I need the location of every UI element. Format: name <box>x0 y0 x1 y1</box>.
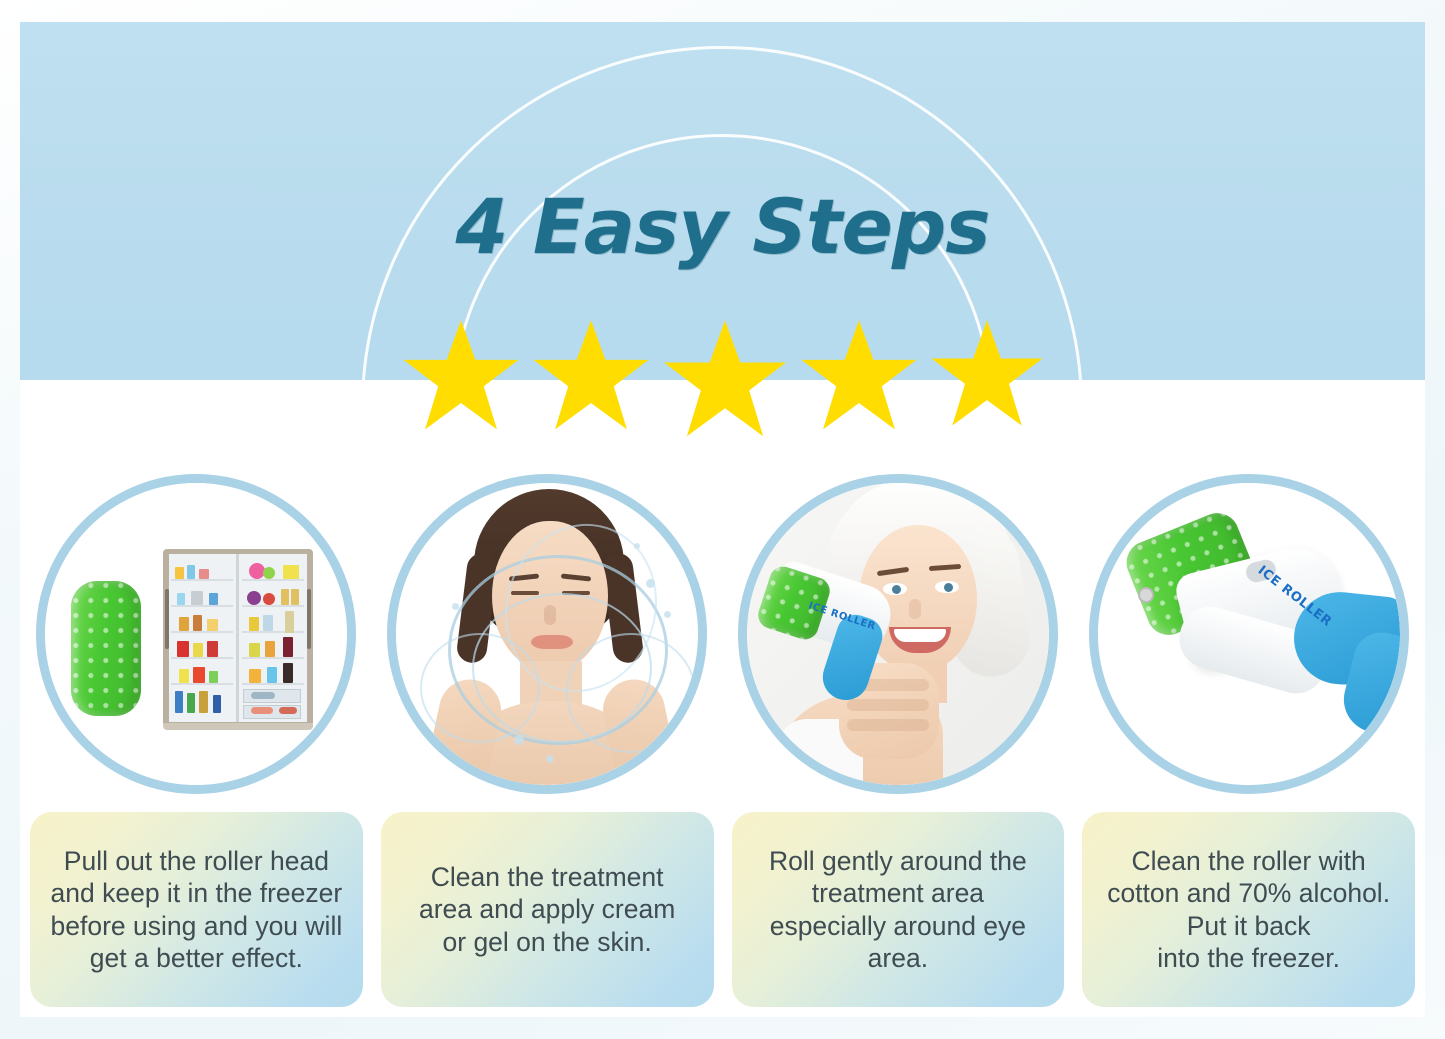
roller-head-shape <box>71 581 141 716</box>
water-splash <box>566 633 696 753</box>
fridge-shape <box>163 549 313 729</box>
scene-clean-roller: ICE ROLLER <box>1098 483 1400 785</box>
scene-face-wash <box>396 483 698 785</box>
step-caption-2: Clean the treatment area and apply cream… <box>381 812 714 1007</box>
step-image-4: ICE ROLLER <box>1089 474 1409 794</box>
circle-frame: ICE ROLLER <box>738 474 1058 794</box>
water-splash <box>420 633 540 743</box>
step-caption-3: Roll gently around the treatment area es… <box>732 812 1065 1007</box>
step-caption-4: Clean the roller with cotton and 70% alc… <box>1082 812 1415 1007</box>
step-image-1 <box>36 474 356 794</box>
step-image-3: ICE ROLLER <box>738 474 1058 794</box>
page-title: 4 Easy Steps <box>20 182 1425 271</box>
circle-frame <box>387 474 707 794</box>
scene-rolling: ICE ROLLER <box>747 483 1049 785</box>
poster-card: 4 Easy Steps <box>20 22 1425 1017</box>
step-image-row: ICE ROLLER <box>20 474 1425 794</box>
step-image-2 <box>387 474 707 794</box>
step-caption-row: Pull out the roller head and keep it in … <box>20 812 1425 1007</box>
poster-root: 4 Easy Steps <box>0 0 1445 1039</box>
circle-frame: ICE ROLLER <box>1089 474 1409 794</box>
circle-frame <box>36 474 356 794</box>
step-caption-1: Pull out the roller head and keep it in … <box>30 812 363 1007</box>
scene-freezer <box>45 483 347 785</box>
